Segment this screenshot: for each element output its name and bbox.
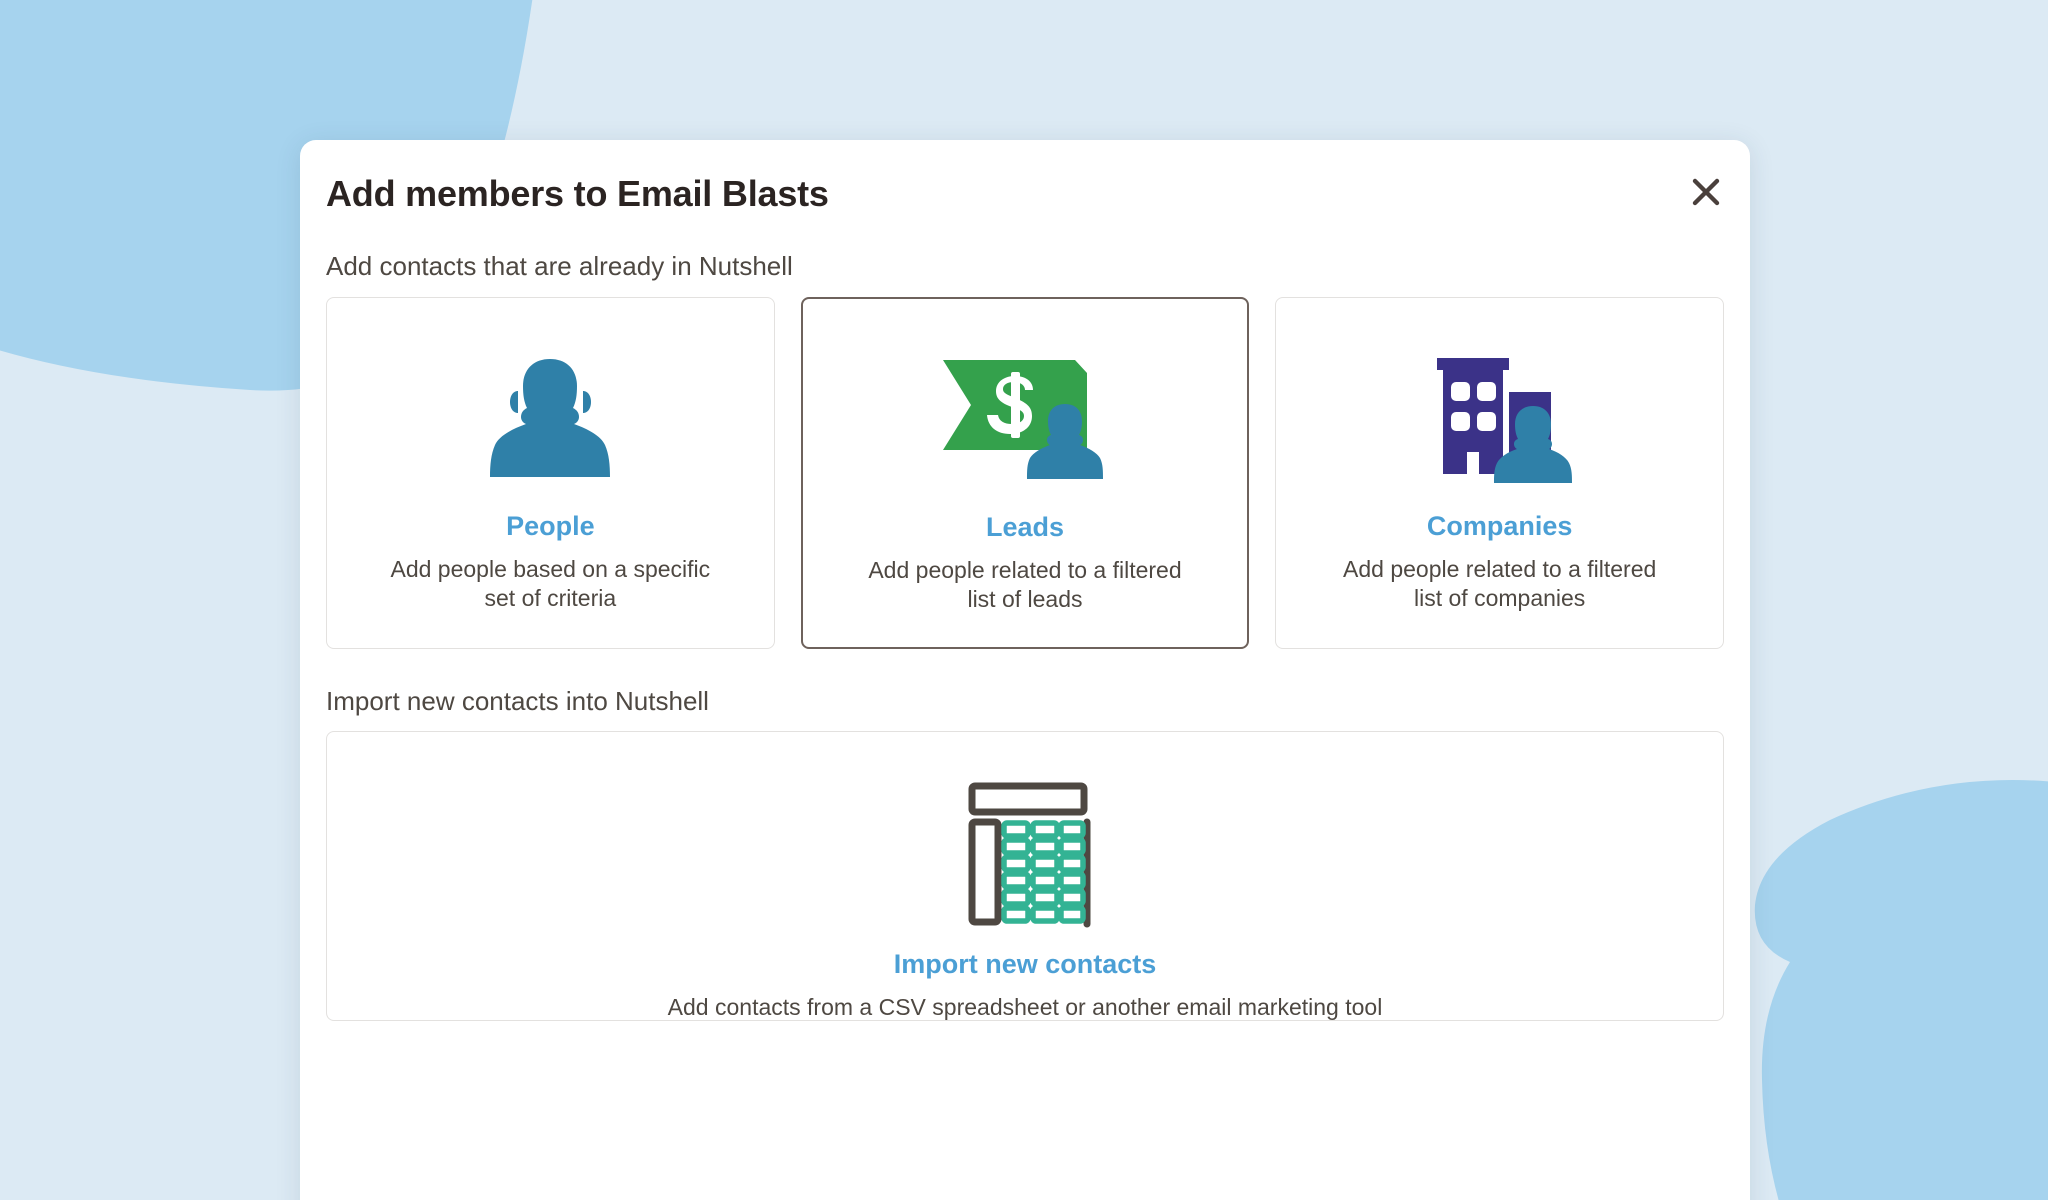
person-icon [488, 348, 613, 488]
source-card-leads[interactable]: Leads Add people related to a filtered l… [801, 297, 1250, 649]
import-card-title: Import new contacts [894, 948, 1157, 980]
source-card-companies[interactable]: Companies Add people related to a filter… [1275, 297, 1724, 649]
building-person-icon [1425, 348, 1575, 488]
add-members-modal: Add members to Email Blasts Add contacts… [300, 140, 1750, 1200]
source-card-title: People [506, 510, 595, 542]
page-title: Add members to Email Blasts [326, 174, 829, 214]
source-card-people[interactable]: People Add people based on a specific se… [326, 297, 775, 649]
source-card-title: Leads [986, 511, 1064, 543]
import-new-contacts-card[interactable]: Import new contacts Add contacts from a … [326, 731, 1724, 1021]
close-button[interactable] [1684, 170, 1728, 214]
source-card-description: Add people related to a filtered list of… [1330, 555, 1670, 614]
spreadsheet-icon [954, 780, 1096, 928]
import-contacts-section-label: Import new contacts into Nutshell [326, 685, 1724, 718]
money-banner-person-icon [937, 349, 1113, 489]
existing-contacts-section-label: Add contacts that are already in Nutshel… [326, 250, 1724, 283]
blob-bottom-right [1755, 780, 2048, 1200]
source-card-description: Add people related to a filtered list of… [855, 556, 1195, 615]
source-card-grid: People Add people based on a specific se… [326, 297, 1724, 649]
modal-header: Add members to Email Blasts [326, 140, 1724, 214]
import-card-description: Add contacts from a CSV spreadsheet or a… [668, 993, 1383, 1022]
source-card-description: Add people based on a specific set of cr… [380, 555, 720, 614]
source-card-title: Companies [1427, 510, 1573, 542]
close-icon [1691, 177, 1721, 207]
